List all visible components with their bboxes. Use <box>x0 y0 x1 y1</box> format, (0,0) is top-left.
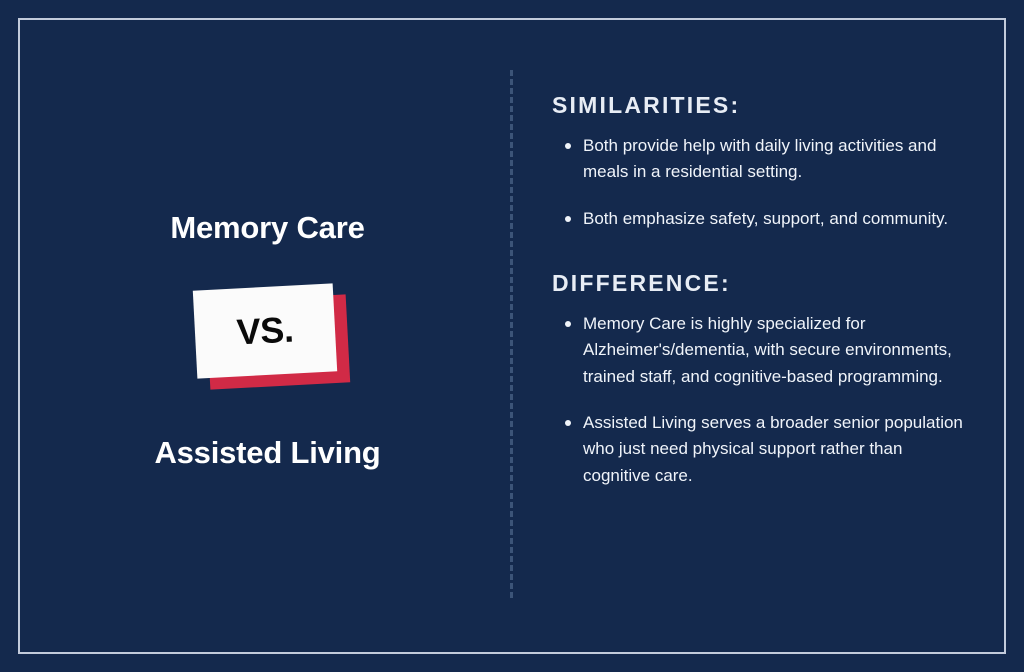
list-item: Both provide help with daily living acti… <box>552 133 972 186</box>
bullet-dot-icon <box>565 420 571 426</box>
infographic-canvas: Memory Care VS. Assisted Living SIMILARI… <box>0 0 1024 672</box>
list-item-text: Both provide help with daily living acti… <box>583 136 936 181</box>
bullet-dot-icon <box>565 216 571 222</box>
bullet-dot-icon <box>565 143 571 149</box>
details-panel: SIMILARITIES: Both provide help with dai… <box>552 92 972 489</box>
list-item: Memory Care is highly specialized for Al… <box>552 311 972 390</box>
versus-badge-card: VS. <box>193 283 337 378</box>
versus-badge: VS. <box>195 285 345 390</box>
section-heading-difference: DIFFERENCE: <box>552 270 972 297</box>
section-difference: DIFFERENCE: Memory Care is highly specia… <box>552 270 972 489</box>
section-heading-similarities: SIMILARITIES: <box>552 92 972 119</box>
list-item-text: Memory Care is highly specialized for Al… <box>583 314 952 386</box>
list-item: Assisted Living serves a broader senior … <box>552 410 972 489</box>
comparison-right-title: Assisted Living <box>40 435 495 471</box>
bullet-dot-icon <box>565 321 571 327</box>
comparison-left-title: Memory Care <box>40 210 495 246</box>
difference-list: Memory Care is highly specialized for Al… <box>552 311 972 489</box>
section-similarities: SIMILARITIES: Both provide help with dai… <box>552 92 972 232</box>
list-item-text: Both emphasize safety, support, and comm… <box>583 209 948 228</box>
comparison-panel: Memory Care VS. Assisted Living <box>40 60 495 620</box>
vertical-dashed-divider <box>510 70 513 598</box>
list-item: Both emphasize safety, support, and comm… <box>552 206 972 232</box>
similarities-list: Both provide help with daily living acti… <box>552 133 972 232</box>
list-item-text: Assisted Living serves a broader senior … <box>583 413 963 485</box>
versus-label: VS. <box>236 312 294 351</box>
